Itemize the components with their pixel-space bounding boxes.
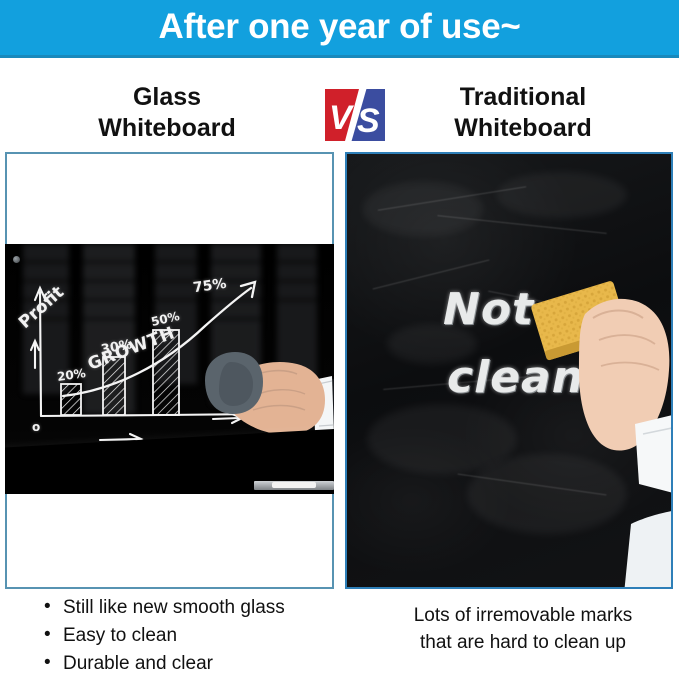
chart-origin-label: o — [32, 420, 40, 434]
glass-whiteboard-photo: Profit o GROWTH 20% 30% 50% 75% time — [5, 244, 334, 494]
left-column-heading: Glass Whiteboard — [22, 82, 312, 144]
caption-line1: Lots of irremovable marks — [378, 602, 668, 629]
vs-badge-v-letter: V — [329, 99, 355, 137]
left-heading-line1: Glass — [22, 82, 312, 113]
caption-line2: that are hard to clean up — [378, 629, 668, 656]
whiteboard-marker — [272, 482, 316, 488]
left-product-panel: Profit o GROWTH 20% 30% 50% 75% time — [5, 152, 334, 589]
hand-with-sponge — [527, 274, 673, 589]
list-item: Durable and clear — [44, 650, 344, 678]
list-item: Still like new smooth glass — [44, 594, 344, 622]
page-title: After one year of use~ — [0, 0, 679, 55]
left-benefits-list: Still like new smooth glass Easy to clea… — [44, 594, 344, 678]
list-item: Easy to clean — [44, 622, 344, 650]
right-drawback-caption: Lots of irremovable marks that are hard … — [378, 602, 668, 656]
right-heading-line1: Traditional — [378, 82, 668, 113]
vs-badge-s-letter: S — [357, 102, 380, 140]
left-heading-line2: Whiteboard — [22, 113, 312, 144]
right-product-panel: Not clean — [345, 152, 673, 589]
vs-badge-icon: V S — [321, 87, 389, 143]
header-banner: After one year of use~ — [0, 0, 679, 58]
chalk-text-line1: Not — [443, 284, 534, 335]
right-column-heading: Traditional Whiteboard — [378, 82, 668, 144]
right-heading-line2: Whiteboard — [378, 113, 668, 144]
